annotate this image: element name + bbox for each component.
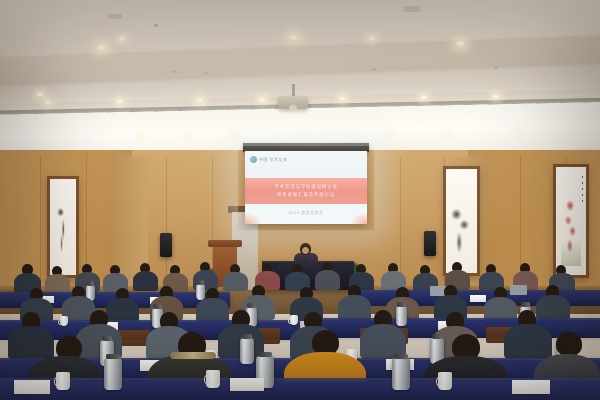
downlight-icon (420, 95, 428, 100)
document-sheet (230, 378, 264, 391)
downlight-icon (232, 134, 238, 138)
downlight-icon (455, 40, 466, 47)
downlight-icon (300, 133, 306, 137)
sprinkler-icon (204, 72, 208, 75)
slide-title-band: 学术交流与学科建设研讨会 项目进展汇报及专题论坛 (245, 178, 367, 204)
ceiling-vent (108, 14, 122, 19)
thermos-flask (392, 358, 410, 390)
downlight-icon (196, 98, 204, 103)
downlight-icon (516, 130, 522, 134)
ink-brush-strokes (57, 206, 69, 258)
lectern-top (208, 240, 242, 247)
presentation-slide: 中国·学术交流 学术交流与学科建设研讨会 项目进展汇报及专题论坛 2019·会议… (245, 151, 367, 224)
audience-person (338, 295, 371, 320)
slide-title-line-2: 项目进展汇报及专题论坛 (277, 192, 335, 198)
ceiling-vent (404, 6, 420, 12)
sprinkler-icon (372, 68, 376, 71)
document-sheet (512, 380, 550, 394)
downlight-icon (184, 135, 190, 139)
tea-cup (438, 372, 452, 390)
audience-person (315, 270, 340, 290)
slide-title-line-1: 学术交流与学科建设研讨会 (274, 184, 338, 190)
document-sheet (470, 295, 486, 302)
downlight-icon (386, 132, 392, 136)
downlight-icon (492, 94, 500, 99)
audience-person (106, 298, 139, 322)
laptop[interactable] (510, 285, 527, 295)
document-sheet (14, 380, 50, 394)
thermos-flask (396, 306, 407, 326)
thermos-flask (196, 284, 205, 300)
audience-person (196, 298, 229, 322)
downlight-icon (368, 36, 376, 41)
downlight-icon (96, 44, 107, 51)
tea-cup (56, 372, 70, 390)
audience-person (223, 272, 248, 291)
tea-cup (60, 316, 68, 326)
projector-lens-icon (289, 105, 297, 110)
thermos-flask (104, 358, 122, 390)
audience-person (536, 295, 570, 320)
projection-screen[interactable]: 中国·学术交流 学术交流与学科建设研讨会 项目进展汇报及专题论坛 2019·会议… (245, 151, 367, 224)
audience-person (45, 274, 70, 293)
downlight-icon (116, 99, 124, 104)
conference-table-front (0, 382, 600, 400)
sprinkler-icon (154, 24, 158, 27)
person-fur-collar (170, 352, 216, 359)
downlight-icon (444, 131, 450, 135)
calligraphy-inscription (582, 176, 584, 204)
audience-area (0, 252, 600, 400)
downlight-icon (338, 96, 346, 101)
downlight-icon (138, 135, 144, 139)
slide-logo-text: 中国·学术交流 (259, 157, 287, 163)
sprinkler-icon (494, 66, 498, 69)
tea-cup (290, 315, 298, 325)
logo-mark-icon (250, 156, 257, 163)
audience-person (8, 326, 54, 360)
conference-hall-photo: 中国·学术交流 学术交流与学科建设研讨会 项目进展汇报及专题论坛 2019·会议… (0, 0, 600, 400)
downlight-icon (118, 36, 126, 41)
thermos-flask (240, 338, 254, 364)
tea-cup (206, 370, 220, 388)
audience-head (556, 332, 582, 356)
slide-footer-text: 2019·会议主办方 (245, 211, 367, 216)
downlight-icon (288, 34, 299, 41)
downlight-icon (258, 97, 266, 102)
audience-person (133, 271, 158, 291)
downlight-icon (36, 92, 44, 97)
downlight-icon (44, 100, 52, 105)
slide-logo: 中国·学术交流 (250, 156, 287, 163)
sprinkler-icon (172, 70, 176, 73)
audience-person (504, 324, 552, 359)
ink-brush-strokes (450, 204, 472, 256)
